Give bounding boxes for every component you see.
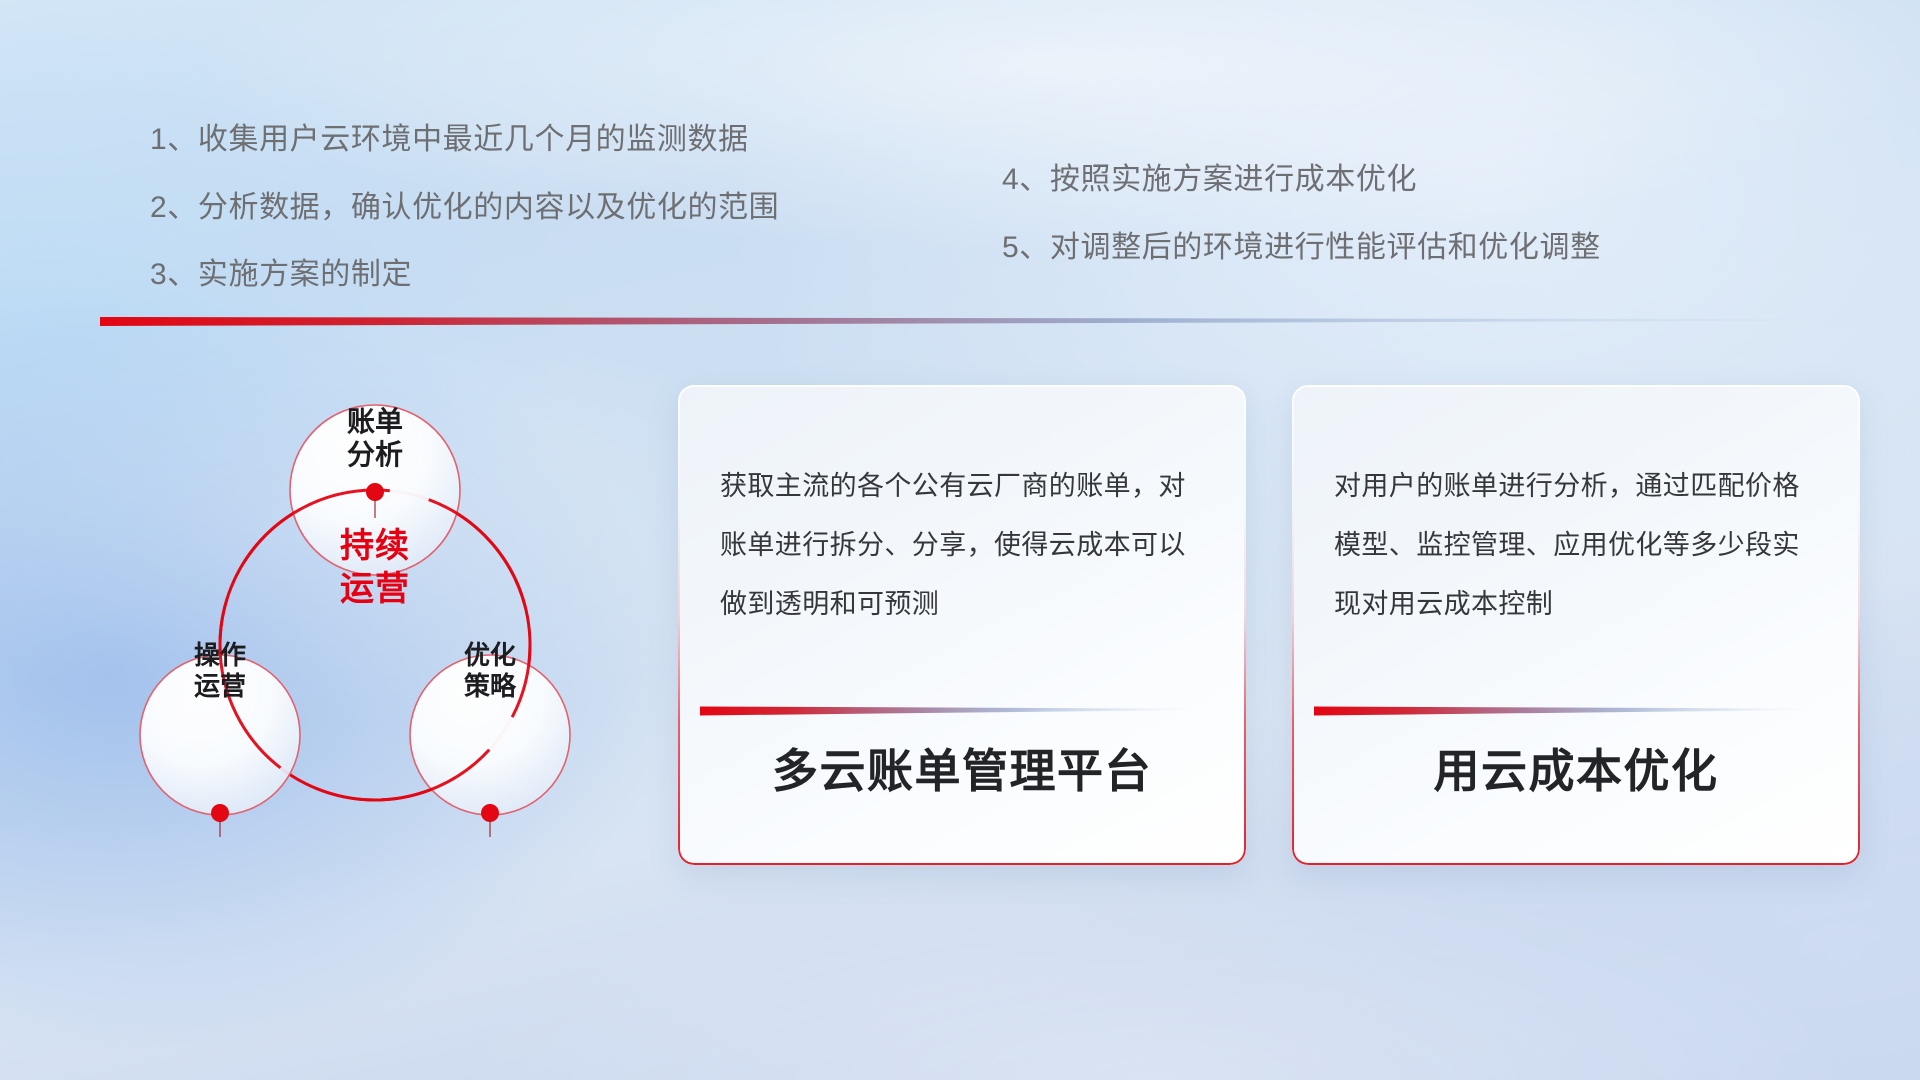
section-divider-shape xyxy=(100,313,1880,327)
continuous-operations-diagram: 账单 分析 操作 运营 优化 策略 持续 运营 xyxy=(90,350,650,950)
card-multi-cloud-billing-platform[interactable]: 获取主流的各个公有云厂商的账单，对账单进行拆分、分享，使得云成本可以做到透明和可… xyxy=(678,385,1246,865)
card-2-divider xyxy=(1314,703,1814,716)
section-divider xyxy=(100,313,1880,327)
step-item-5: 5、对调整后的环境进行性能评估和优化调整 xyxy=(1002,224,1601,273)
card-1-divider-shape xyxy=(700,703,1200,716)
card-2-divider-shape xyxy=(1314,703,1814,716)
card-2-title: 用云成本优化 xyxy=(1292,735,1860,801)
step-item-1: 1、收集用户云环境中最近几个月的监测数据 xyxy=(150,116,779,165)
card-1-title: 多云账单管理平台 xyxy=(678,735,1246,801)
venn-shape xyxy=(90,350,650,950)
step-item-2: 2、分析数据，确认优化的内容以及优化的范围 xyxy=(150,184,779,233)
card-1-divider xyxy=(700,703,1200,716)
step-item-3: 3、实施方案的制定 xyxy=(150,251,779,300)
steps-right-column: 4、按照实施方案进行成本优化 5、对调整后的环境进行性能评估和优化调整 xyxy=(1002,156,1601,272)
card-1-body: 获取主流的各个公有云厂商的账单，对账单进行拆分、分享，使得云成本可以做到透明和可… xyxy=(720,457,1212,634)
step-item-4: 4、按照实施方案进行成本优化 xyxy=(1002,156,1601,205)
card-2-body: 对用户的账单进行分析，通过匹配价格模型、监控管理、应用优化等多少段实现对用云成本… xyxy=(1334,457,1826,634)
slide-canvas: 1、收集用户云环境中最近几个月的监测数据 2、分析数据，确认优化的内容以及优化的… xyxy=(0,0,1920,1080)
steps-left-column: 1、收集用户云环境中最近几个月的监测数据 2、分析数据，确认优化的内容以及优化的… xyxy=(150,116,779,300)
card-cloud-cost-optimization[interactable]: 对用户的账单进行分析，通过匹配价格模型、监控管理、应用优化等多少段实现对用云成本… xyxy=(1292,385,1860,865)
